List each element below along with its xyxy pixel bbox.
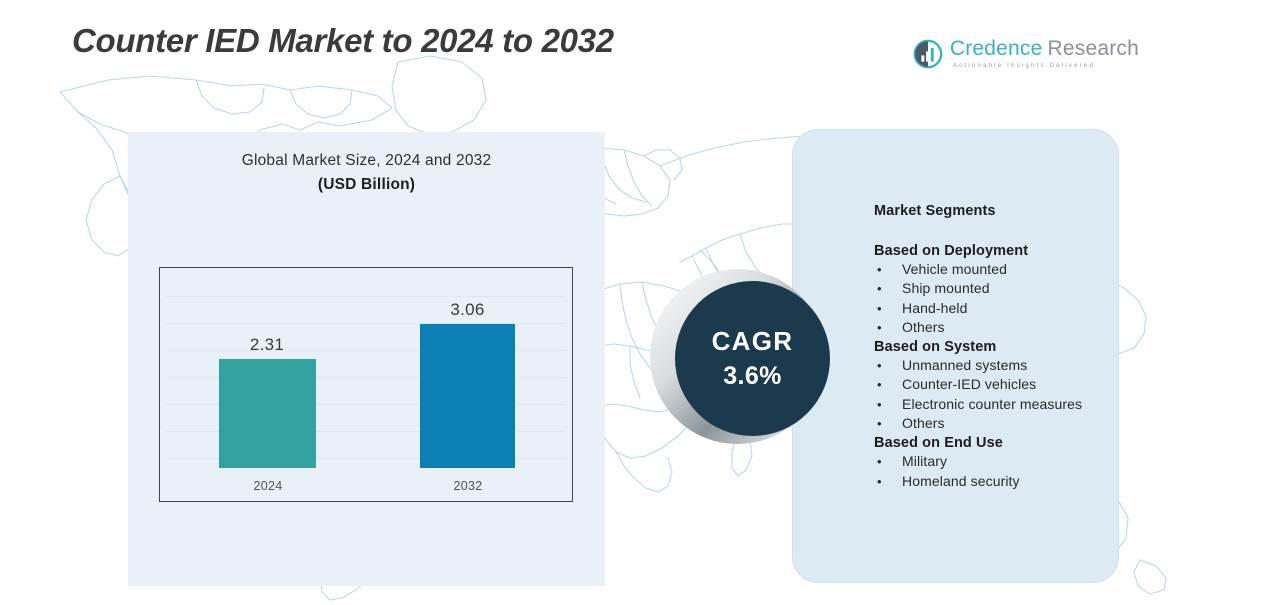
brand-text: CredenceResearch Actionable Insights Del… [950, 38, 1139, 69]
segment-item-label: Ship mounted [902, 280, 990, 296]
chart-heading: Global Market Size, 2024 and 2032 (USD B… [128, 152, 605, 194]
segment-group: Based on Deployment•Vehicle mounted•Ship… [874, 243, 1104, 337]
segment-item-label: Unmanned systems [902, 357, 1027, 373]
brand-name-secondary: Research [1048, 37, 1139, 60]
segment-item-list: •Military•Homeland security [874, 452, 1104, 491]
segments-title: Market Segments [874, 203, 1104, 219]
brand-name: CredenceResearch [950, 38, 1139, 59]
segment-item-list: •Vehicle mounted•Ship mounted•Hand-held•… [874, 260, 1104, 337]
segment-item-label: Hand-held [902, 300, 968, 316]
segment-item-label: Military [902, 453, 947, 469]
bullet-icon: • [877, 452, 882, 471]
bar-2024 [219, 359, 316, 468]
chart-title: Global Market Size, 2024 and 2032 [128, 152, 605, 170]
brand-logo: CredenceResearch Actionable Insights Del… [913, 38, 1139, 69]
brand-tagline: Actionable Insights Delivered [953, 63, 1139, 69]
chart-plot-area: 2.31 3.06 2024 2032 [160, 268, 572, 501]
cagr-value: 3.6% [723, 364, 782, 389]
page-title: Counter IED Market to 2024 to 2032 [72, 22, 614, 60]
chart-subtitle: (USD Billion) [128, 176, 605, 194]
segment-item-label: Others [902, 415, 945, 431]
segment-item[interactable]: •Unmanned systems [874, 356, 1104, 375]
bullet-icon: • [877, 472, 882, 491]
segment-item-label: Others [902, 319, 945, 335]
bullet-icon: • [877, 356, 882, 375]
segment-item[interactable]: •Hand-held [874, 299, 1104, 318]
axis-label-2024: 2024 [208, 479, 328, 493]
bullet-icon: • [877, 299, 882, 318]
segment-item-label: Vehicle mounted [902, 261, 1007, 277]
segment-item-label: Counter-IED vehicles [902, 376, 1036, 392]
bullet-icon: • [877, 395, 882, 414]
segment-group: Based on End Use•Military•Homeland secur… [874, 435, 1104, 491]
bullet-icon: • [877, 260, 882, 279]
axis-label-2032: 2032 [408, 479, 528, 493]
segment-group-title: Based on End Use [874, 435, 1104, 451]
segment-item[interactable]: •Electronic counter measures [874, 395, 1104, 414]
bar-value-2032: 3.06 [400, 300, 535, 320]
bar-value-2024: 2.31 [202, 335, 332, 355]
segment-groups: Based on Deployment•Vehicle mounted•Ship… [874, 243, 1104, 491]
segment-item[interactable]: •Vehicle mounted [874, 260, 1104, 279]
bar-2032 [420, 324, 515, 469]
segment-group-title: Based on System [874, 339, 1104, 355]
segment-item-list: •Unmanned systems•Counter-IED vehicles•E… [874, 356, 1104, 433]
segment-item[interactable]: •Others [874, 318, 1104, 337]
segment-group: Based on System•Unmanned systems•Counter… [874, 339, 1104, 433]
brand-name-primary: Credence [950, 37, 1043, 60]
cagr-label: CAGR [712, 328, 794, 354]
bullet-icon: • [877, 279, 882, 298]
market-segments: Market Segments Based on Deployment•Vehi… [874, 203, 1104, 491]
segment-group-title: Based on Deployment [874, 243, 1104, 259]
bullet-icon: • [877, 318, 882, 337]
segment-item-label: Homeland security [902, 473, 1020, 489]
segment-item[interactable]: •Homeland security [874, 472, 1104, 491]
segment-item[interactable]: •Counter-IED vehicles [874, 375, 1104, 394]
segment-item-label: Electronic counter measures [902, 396, 1082, 412]
segment-item[interactable]: •Others [874, 414, 1104, 433]
segment-item[interactable]: •Ship mounted [874, 279, 1104, 298]
segment-item[interactable]: •Military [874, 452, 1104, 471]
bullet-icon: • [877, 414, 882, 433]
cagr-badge: CAGR 3.6% [675, 281, 830, 436]
bullet-icon: • [877, 375, 882, 394]
bar-chart-circle-icon [913, 39, 943, 69]
bar-chart: 2.31 3.06 2024 2032 [159, 267, 573, 502]
